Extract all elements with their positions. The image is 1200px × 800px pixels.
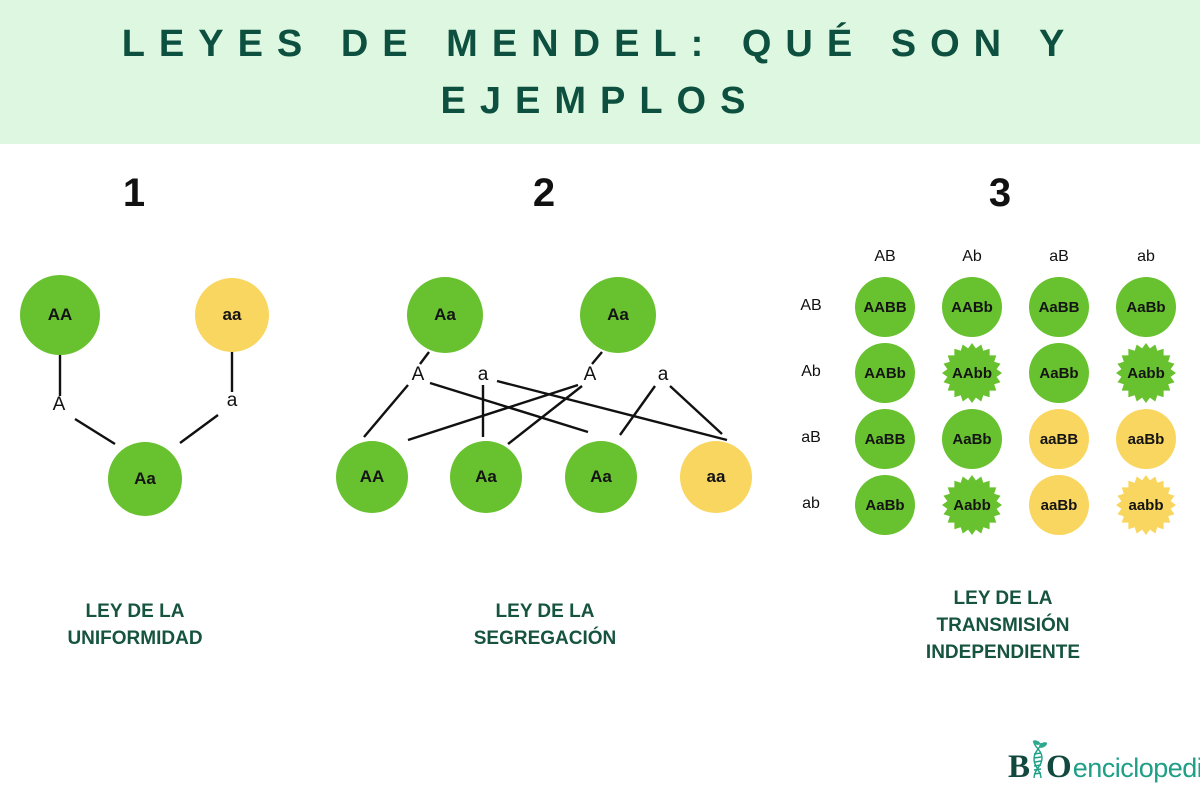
punnett-cell-0-3: AaBb bbox=[1116, 277, 1176, 337]
punnett-cell-1-2: AaBb bbox=[1029, 343, 1089, 403]
genotype-label: aa bbox=[223, 305, 242, 325]
logo-wordmark: enciclopedia bbox=[1073, 752, 1200, 785]
genotype-label: AABB bbox=[863, 299, 906, 316]
punnett-row-header-1: Ab bbox=[788, 363, 834, 381]
genotype-label: AaBb bbox=[1126, 299, 1165, 316]
punnett-cell-3-1: Aabb bbox=[942, 475, 1002, 535]
line-p2-A1-to-Aa2 bbox=[430, 383, 588, 432]
panel-caption-2: LEY DE LA SEGREGACIÓN bbox=[420, 598, 670, 652]
panel-number-2: 2 bbox=[514, 170, 574, 216]
genotype-label: Aabb bbox=[1127, 365, 1165, 382]
line-p2-a2-to-Aa3 bbox=[620, 386, 655, 435]
punnett-cell-1-1: AAbb bbox=[942, 343, 1002, 403]
line-p2-parentL-to-A1 bbox=[420, 352, 429, 364]
line-p2-A1-to-AA bbox=[364, 385, 408, 437]
punnett-cell-2-1: AaBb bbox=[942, 409, 1002, 469]
genotype-label: Aabb bbox=[953, 497, 991, 514]
line-p1-a-to-Aa bbox=[180, 415, 218, 443]
panel2-gamete-a-1: a bbox=[470, 364, 496, 386]
punnett-cell-1-3: Aabb bbox=[1116, 343, 1176, 403]
panel2-offspring-AA: AA bbox=[336, 441, 408, 513]
genotype-label: AABb bbox=[864, 365, 906, 382]
punnett-cell-1-0: AABb bbox=[855, 343, 915, 403]
line-p2-A2-to-AA bbox=[408, 385, 578, 440]
punnett-cell-2-0: AaBB bbox=[855, 409, 915, 469]
page-title: LEYES DE MENDEL: QUÉ SON Y EJEMPLOS bbox=[60, 16, 1140, 130]
punnett-cell-3-3: aabb bbox=[1116, 475, 1176, 535]
panel1-gamete-a: a bbox=[219, 390, 245, 412]
genotype-label: AA bbox=[48, 305, 73, 325]
punnett-column-header-2: aB bbox=[1036, 248, 1082, 266]
line-p2-parentR-to-A2 bbox=[592, 352, 602, 364]
genotype-label: AaBb bbox=[1039, 365, 1078, 382]
panel2-offspring-aa: aa bbox=[680, 441, 752, 513]
genotype-label: AaBB bbox=[1039, 299, 1080, 316]
punnett-cell-3-0: AaBb bbox=[855, 475, 915, 535]
panel2-gamete-A-1: A bbox=[405, 364, 431, 386]
header-banner: LEYES DE MENDEL: QUÉ SON Y EJEMPLOS bbox=[0, 0, 1200, 144]
punnett-row-header-2: aB bbox=[788, 429, 834, 447]
genotype-label: Aa bbox=[434, 305, 456, 325]
punnett-cell-0-2: AaBB bbox=[1029, 277, 1089, 337]
dna-leaf-icon bbox=[1030, 744, 1046, 777]
genotype-label: Aa bbox=[134, 469, 156, 489]
punnett-column-header-1: Ab bbox=[949, 248, 995, 266]
logo-letter-b: B bbox=[1008, 751, 1030, 784]
panel-number-3: 3 bbox=[970, 170, 1030, 216]
panel2-gamete-a-2: a bbox=[650, 364, 676, 386]
panel2-parent-Aa-right: Aa bbox=[580, 277, 656, 353]
genotype-label: aaBb bbox=[1128, 431, 1165, 448]
line-p1-A-to-Aa bbox=[75, 419, 115, 444]
line-p2-a2-to-aa bbox=[670, 386, 722, 434]
punnett-cell-2-3: aaBb bbox=[1116, 409, 1176, 469]
genotype-label: AaBB bbox=[865, 431, 906, 448]
genotype-label: aa bbox=[707, 467, 726, 487]
panel-caption-1: LEY DE LA UNIFORMIDAD bbox=[10, 598, 260, 652]
line-p2-A2-to-Aa1 bbox=[508, 386, 582, 444]
punnett-row-header-0: AB bbox=[788, 297, 834, 315]
panel2-offspring-Aa-1: Aa bbox=[450, 441, 522, 513]
punnett-cell-3-2: aaBb bbox=[1029, 475, 1089, 535]
punnett-column-header-0: AB bbox=[862, 248, 908, 266]
punnett-cell-0-0: AABB bbox=[855, 277, 915, 337]
genotype-label: Aa bbox=[590, 467, 612, 487]
punnett-cell-2-2: aaBB bbox=[1029, 409, 1089, 469]
punnett-row-header-3: ab bbox=[788, 495, 834, 513]
genotype-label: AABb bbox=[951, 299, 993, 316]
genotype-label: Aa bbox=[607, 305, 629, 325]
line-p2-a1-to-Aa3 bbox=[497, 381, 727, 440]
infographic-canvas: LEYES DE MENDEL: QUÉ SON Y EJEMPLOS bbox=[0, 0, 1200, 800]
panel-number-1: 1 bbox=[104, 170, 164, 216]
panel2-gamete-A-2: A bbox=[577, 364, 603, 386]
panel1-parent-aa: aa bbox=[195, 278, 269, 352]
genotype-label: aaBb bbox=[1041, 497, 1078, 514]
panel2-offspring-Aa-2: Aa bbox=[565, 441, 637, 513]
genotype-label: aabb bbox=[1128, 497, 1163, 514]
panel2-parent-Aa-left: Aa bbox=[407, 277, 483, 353]
genotype-label: AaBb bbox=[952, 431, 991, 448]
panel1-offspring-Aa: Aa bbox=[108, 442, 182, 516]
panel1-parent-AA: AA bbox=[20, 275, 100, 355]
punnett-cell-0-1: AABb bbox=[942, 277, 1002, 337]
panel-caption-3: LEY DE LA TRANSMISIÓN INDEPENDIENTE bbox=[878, 585, 1128, 666]
genotype-label: AA bbox=[360, 467, 385, 487]
panel1-gamete-A: A bbox=[46, 394, 72, 416]
genotype-label: AaBb bbox=[865, 497, 904, 514]
genotype-label: aaBB bbox=[1040, 431, 1078, 448]
genotype-label: Aa bbox=[475, 467, 497, 487]
genotype-label: AAbb bbox=[952, 365, 992, 382]
punnett-column-header-3: ab bbox=[1123, 248, 1169, 266]
bioenciclopedia-logo[interactable]: B O enciclopedia bbox=[1008, 744, 1200, 782]
